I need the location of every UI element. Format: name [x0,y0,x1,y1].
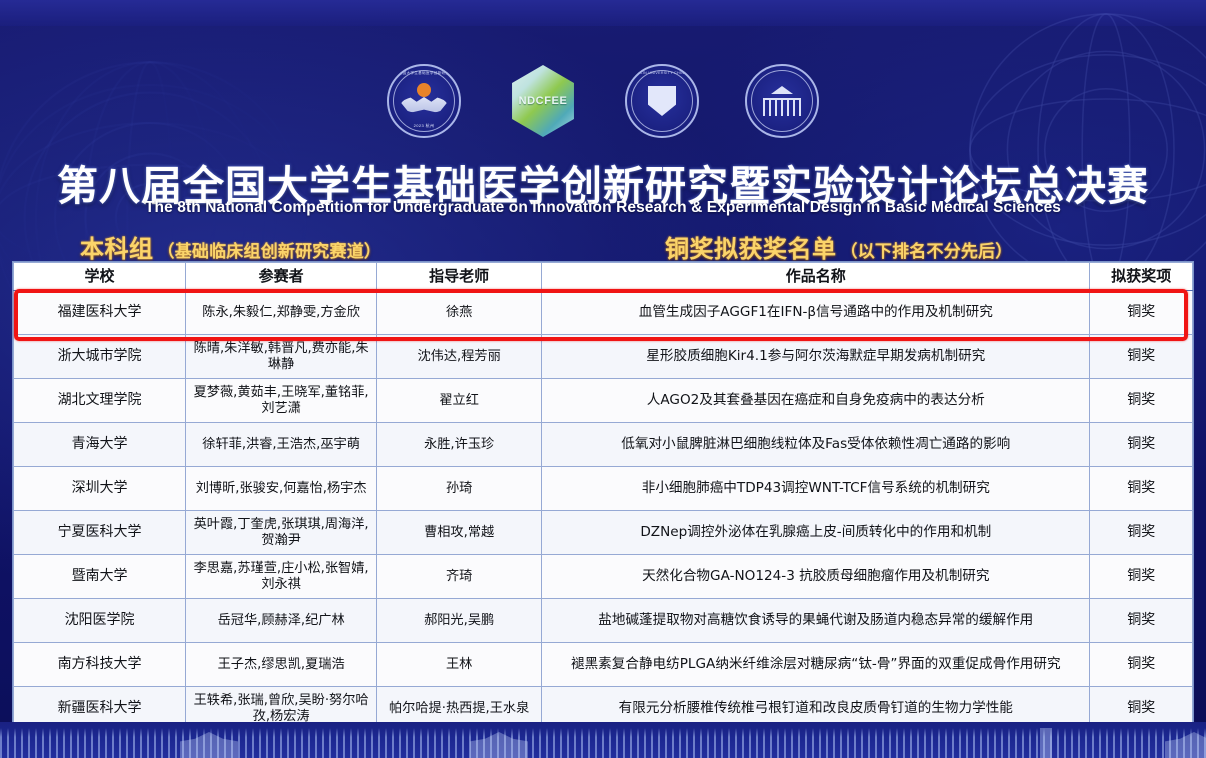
jilin-university-logo: JILIN UNIVERSITY CHINA [625,64,699,138]
cell-members: 王子杰,缪思凯,夏瑞浩 [186,643,377,687]
cell-school: 暨南大学 [14,555,186,599]
cell-work: 人AGO2及其套叠基因在癌症和自身免疫病中的表达分析 [542,379,1090,423]
cell-members: 岳冠华,顾赫泽,纪广林 [186,599,377,643]
cell-school: 深圳大学 [14,467,186,511]
shield-icon [648,86,676,116]
cell-teacher: 孙琦 [377,467,542,511]
jilin-arc-text: JILIN UNIVERSITY CHINA [637,71,687,75]
cell-members: 英叶霞,丁奎虎,张琪琪,周海洋,贺瀚尹 [186,511,377,555]
presentation-slide: 全国大学生基础医学创新研究 2023 杭州 NDCFEE JILIN UNIVE… [0,0,1206,758]
cell-work: DZNep调控外泌体在乳腺癌上皮-间质转化中的作用和机制 [542,511,1090,555]
emblem-arc-text: 全国大学生基础医学创新研究 [399,71,450,76]
table-row: 南方科技大学王子杰,缪思凯,夏瑞浩王林褪黑素复合静电纺PLGA纳米纤维涂层对糖尿… [14,643,1193,687]
subheader-row: 本科组（基础临床组创新研究赛道） 铜奖拟获奖名单（以下排名不分先后） [0,229,1206,261]
cell-members: 陈晴,朱洋敏,韩晋凡,费亦能,朱琳静 [186,335,377,379]
cell-school: 湖北文理学院 [14,379,186,423]
emblem-wings-icon [401,96,447,113]
cell-members: 夏梦薇,黄茹丰,王晓军,董铭菲,刘艺潇 [186,379,377,423]
cell-teacher: 永胜,许玉珍 [377,423,542,467]
cell-teacher: 郝阳光,吴鹏 [377,599,542,643]
column-header-school: 学校 [14,263,186,291]
ndcfee-hex-logo: NDCFEE [507,65,579,137]
cell-members: 徐轩菲,洪睿,王浩杰,巫宇萌 [186,423,377,467]
competition-emblem-logo: 全国大学生基础医学创新研究 2023 杭州 [387,64,461,138]
group-label: 本科组 [80,235,154,263]
table-row: 宁夏医科大学英叶霞,丁奎虎,张琪琪,周海洋,贺瀚尹曹相攻,常越DZNep调控外泌… [14,511,1193,555]
cell-teacher: 齐琦 [377,555,542,599]
cell-school: 南方科技大学 [14,643,186,687]
column-header-work: 作品名称 [542,263,1090,291]
page-title-en: The 8th National Competition for Undergr… [0,199,1206,217]
cell-work: 低氧对小鼠脾脏淋巴细胞线粒体及Fas受体依赖性凋亡通路的影响 [542,423,1090,467]
cell-work: 星形胶质细胞Kir4.1参与阿尔茨海默症早期发病机制研究 [542,335,1090,379]
cell-teacher: 沈伟达,程芳丽 [377,335,542,379]
cell-work: 血管生成因子AGGF1在IFN-β信号通路中的作用及机制研究 [542,291,1090,335]
table-row: 湖北文理学院夏梦薇,黄茹丰,王晓军,董铭菲,刘艺潇翟立红人AGO2及其套叠基因在… [14,379,1193,423]
cell-award: 铜奖 [1090,511,1193,555]
column-header-teacher: 指导老师 [377,263,542,291]
cell-award: 铜奖 [1090,335,1193,379]
cell-award: 铜奖 [1090,643,1193,687]
cell-award: 铜奖 [1090,379,1193,423]
list-label-block: 铜奖拟获奖名单（以下排名不分先后） [665,229,1013,264]
cell-work: 非小细胞肺癌中TDP43调控WNT-TCF信号系统的机制研究 [542,467,1090,511]
cell-teacher: 曹相攻,常越 [377,511,542,555]
cell-teacher: 王林 [377,643,542,687]
emblem-year-text: 2023 杭州 [414,123,435,129]
logo-row: 全国大学生基础医学创新研究 2023 杭州 NDCFEE JILIN UNIVE… [0,62,1206,140]
table-row: 深圳大学刘博昕,张骏安,何嘉怡,杨宇杰孙琦非小细胞肺癌中TDP43调控WNT-T… [14,467,1193,511]
cell-teacher: 翟立红 [377,379,542,423]
emblem-dot-icon [417,83,431,97]
cell-award: 铜奖 [1090,291,1193,335]
column-header-members: 参赛者 [186,263,377,291]
cell-work: 褪黑素复合静电纺PLGA纳米纤维涂层对糖尿病“钛-骨”界面的双重促成骨作用研究 [542,643,1090,687]
cell-award: 铜奖 [1090,467,1193,511]
cell-award: 铜奖 [1090,423,1193,467]
list-label: 铜奖拟获奖名单 [665,235,837,263]
table-row: 暨南大学李思嘉,苏瑾萱,庄小松,张智婧,刘永祺齐琦天然化合物GA-NO124-3… [14,555,1193,599]
table-row: 青海大学徐轩菲,洪睿,王浩杰,巫宇萌永胜,许玉珍低氧对小鼠脾脏淋巴细胞线粒体及F… [14,423,1193,467]
list-note: （以下排名不分先后） [841,242,1013,262]
award-table: 学校 参赛者 指导老师 作品名称 拟获奖项 福建医科大学陈永,朱毅仁,郑静雯,方… [13,262,1193,731]
column-header-award: 拟获奖项 [1090,263,1193,291]
award-table-container: 学校 参赛者 指导老师 作品名称 拟获奖项 福建医科大学陈永,朱毅仁,郑静雯,方… [12,261,1194,732]
cell-school: 浙大城市学院 [14,335,186,379]
cell-teacher: 徐燕 [377,291,542,335]
cell-work: 盐地碱蓬提取物对高糖饮食诱导的果蝇代谢及肠道内稳态异常的缓解作用 [542,599,1090,643]
group-track: （基础临床组创新研究赛道） [158,242,382,262]
ndcfee-label: NDCFEE [519,95,568,107]
table-head: 学校 参赛者 指导老师 作品名称 拟获奖项 [14,263,1193,291]
table-body: 福建医科大学陈永,朱毅仁,郑静雯,方金欣徐燕血管生成因子AGGF1在IFN-β信… [14,291,1193,731]
host-university-logo [745,64,819,138]
cell-work: 天然化合物GA-NO124-3 抗胶质母细胞瘤作用及机制研究 [542,555,1090,599]
cell-award: 铜奖 [1090,555,1193,599]
cell-members: 李思嘉,苏瑾萱,庄小松,张智婧,刘永祺 [186,555,377,599]
cell-award: 铜奖 [1090,599,1193,643]
table-row: 浙大城市学院陈晴,朱洋敏,韩晋凡,费亦能,朱琳静沈伟达,程芳丽星形胶质细胞Kir… [14,335,1193,379]
building-icon [763,92,801,116]
skyline-footer-decoration [0,722,1206,758]
skyline-tower-1 [1040,728,1052,758]
cell-school: 福建医科大学 [14,291,186,335]
table-row: 沈阳医学院岳冠华,顾赫泽,纪广林郝阳光,吴鹏盐地碱蓬提取物对高糖饮食诱导的果蝇代… [14,599,1193,643]
cell-members: 陈永,朱毅仁,郑静雯,方金欣 [186,291,377,335]
cell-members: 刘博昕,张骏安,何嘉怡,杨宇杰 [186,467,377,511]
group-label-block: 本科组（基础临床组创新研究赛道） [80,229,381,264]
cell-school: 沈阳医学院 [14,599,186,643]
table-header-row: 学校 参赛者 指导老师 作品名称 拟获奖项 [14,263,1193,291]
cell-school: 宁夏医科大学 [14,511,186,555]
table-row: 福建医科大学陈永,朱毅仁,郑静雯,方金欣徐燕血管生成因子AGGF1在IFN-β信… [14,291,1193,335]
top-gradient-strip [0,0,1206,26]
cell-school: 青海大学 [14,423,186,467]
